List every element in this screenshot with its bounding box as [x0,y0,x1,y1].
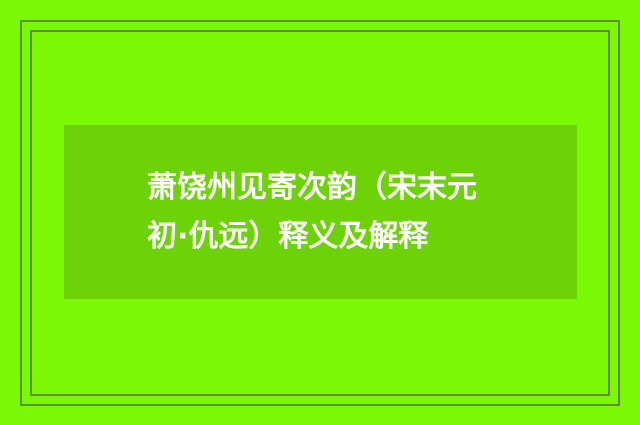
title-line-1: 萧饶州见寄次韵（宋末元 [147,163,557,212]
title-panel: 萧饶州见寄次韵（宋末元 初·仇远）释义及解释 [64,125,577,299]
title-line-2: 初·仇远）释义及解释 [147,212,557,261]
page-title: 萧饶州见寄次韵（宋末元 初·仇远）释义及解释 [64,163,577,261]
title-card: 萧饶州见寄次韵（宋末元 初·仇远）释义及解释 [0,0,640,425]
